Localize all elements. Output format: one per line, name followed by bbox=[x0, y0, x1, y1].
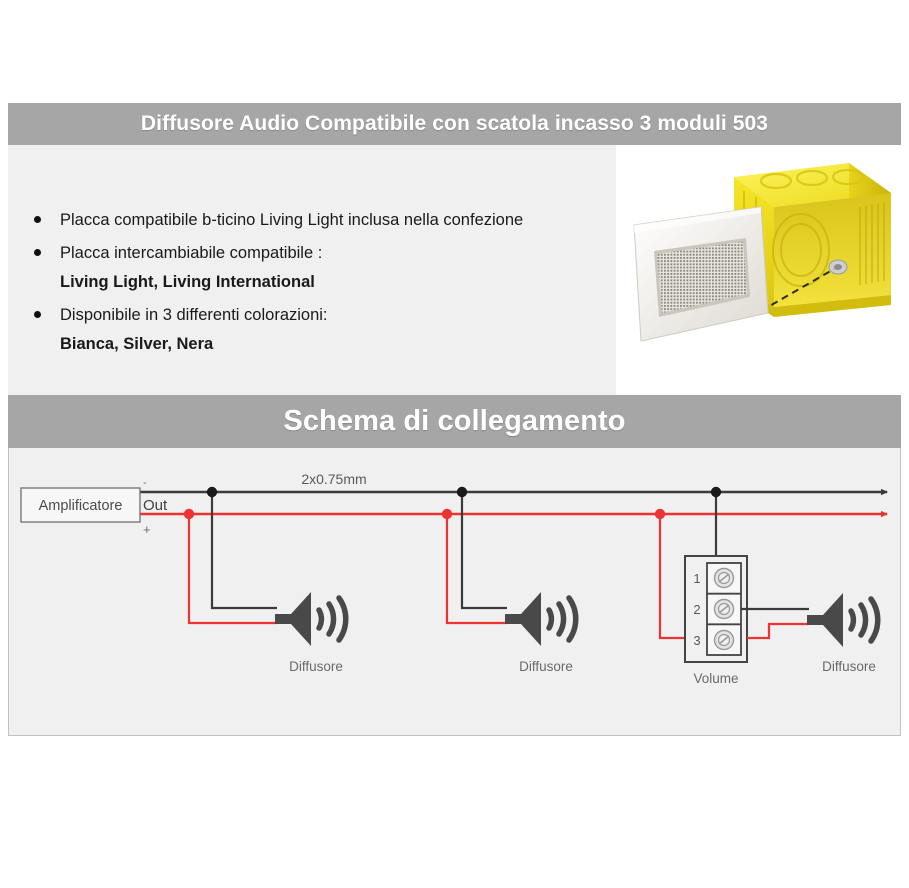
bullet-icon bbox=[34, 249, 41, 256]
speaker-3-label: Diffusore bbox=[822, 659, 876, 674]
volume-label: Volume bbox=[693, 671, 738, 686]
schema-band-text: Schema di collegamento bbox=[283, 405, 625, 438]
list-item: Disponibile in 3 differenti colorazioni:… bbox=[26, 302, 610, 357]
junction-dot bbox=[711, 487, 721, 497]
speaker-1-label: Diffusore bbox=[289, 659, 343, 674]
speaker-2-label: Diffusore bbox=[519, 659, 573, 674]
feature-list: Placca compatibile b-ticino Living Light… bbox=[26, 207, 610, 364]
volume-terminal-screws bbox=[715, 569, 734, 650]
list-item-text: Disponibile in 3 differenti colorazioni: bbox=[60, 306, 328, 324]
bullet-icon bbox=[34, 311, 41, 318]
list-item: Placca intercambiabile compatibile : Liv… bbox=[26, 240, 610, 295]
amplifier-minus-label: - bbox=[143, 477, 147, 489]
list-item-text: Placca compatibile b-ticino Living Light… bbox=[60, 211, 523, 229]
list-item-subtext: Living Light, Living International bbox=[60, 269, 610, 295]
volume-terminal-1-label: 1 bbox=[693, 571, 700, 586]
junction-dot bbox=[655, 509, 665, 519]
amplifier-plus-label: + bbox=[143, 522, 151, 537]
cable-gauge-label: 2x0.75mm bbox=[301, 471, 366, 487]
volume-terminal-3-label: 3 bbox=[693, 633, 700, 648]
title-band-text: Diffusore Audio Compatibile con scatola … bbox=[141, 112, 768, 136]
list-item-subtext: Bianca, Silver, Nera bbox=[60, 331, 610, 357]
schema-band: Schema di collegamento bbox=[8, 395, 901, 448]
bullet-icon bbox=[34, 216, 41, 223]
amplifier-label: Amplificatore bbox=[39, 498, 123, 514]
junction-dot bbox=[457, 487, 467, 497]
feature-panel: Placca compatibile b-ticino Living Light… bbox=[8, 145, 616, 395]
list-item: Placca compatibile b-ticino Living Light… bbox=[26, 207, 610, 233]
junction-dot bbox=[184, 509, 194, 519]
wiring-diagram: 2x0.75mm Amplificatore - Out + Diffusore bbox=[9, 448, 900, 734]
list-item-text: Placca intercambiabile compatibile : bbox=[60, 244, 322, 262]
volume-terminal-2-label: 2 bbox=[693, 602, 700, 617]
wiring-diagram-panel: 2x0.75mm Amplificatore - Out + Diffusore bbox=[8, 448, 901, 736]
title-band: Diffusore Audio Compatibile con scatola … bbox=[8, 103, 901, 145]
amplifier-out-label: Out bbox=[143, 497, 168, 514]
product-photo-image bbox=[616, 145, 901, 395]
junction-dot bbox=[442, 509, 452, 519]
product-photo-panel bbox=[616, 145, 901, 395]
junction-dot bbox=[207, 487, 217, 497]
